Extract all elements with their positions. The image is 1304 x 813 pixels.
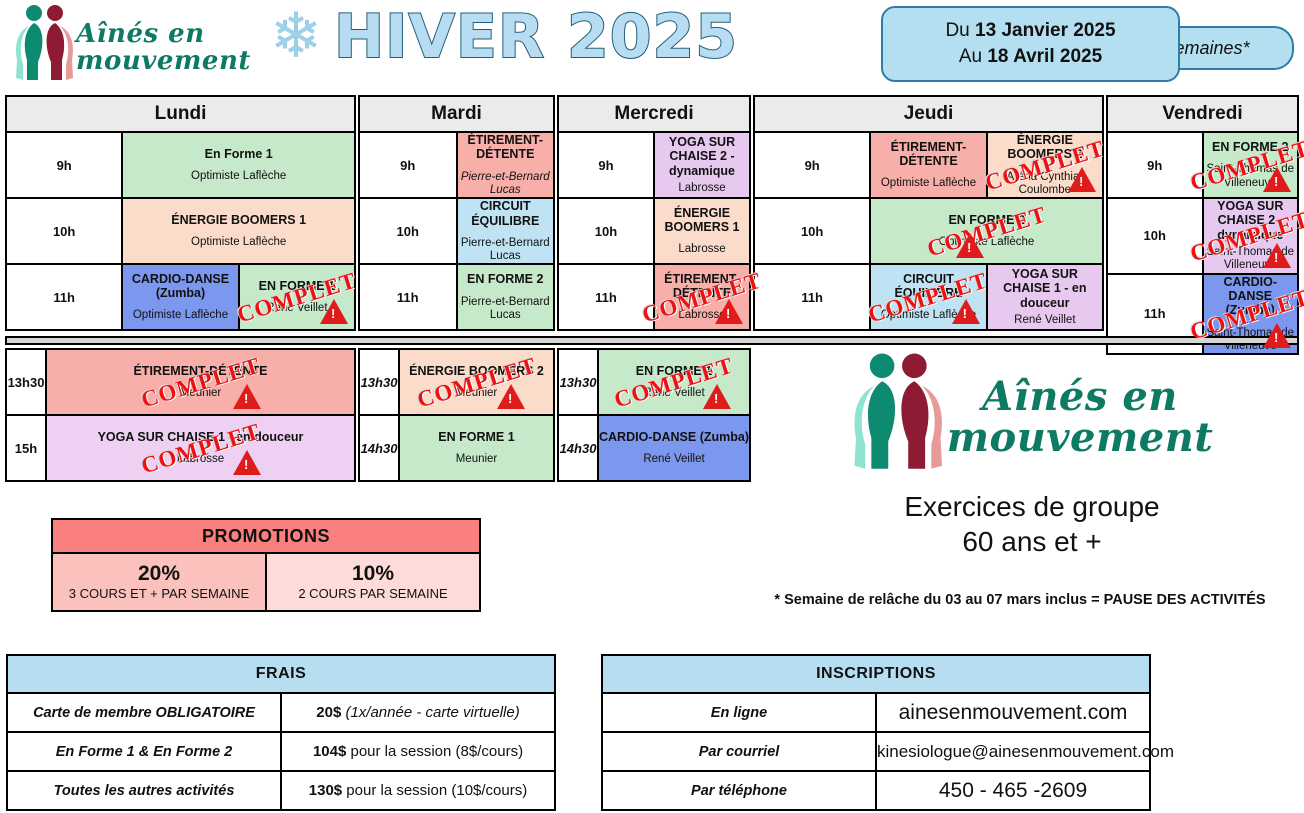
- promotion-percent: 20%: [54, 555, 264, 586]
- class-cell[interactable]: CARDIO-DANSE (Zumba) René Veillet: [598, 415, 750, 481]
- class-cell[interactable]: CIRCUIT ÉQUILIBRE Pierre-et-Bernard Luca…: [457, 198, 555, 264]
- table-row: 10h ÉNERGIE BOOMERS 1 Optimiste Laflèche: [6, 198, 355, 264]
- schedule-mercredi: Mercredi 9h YOGA SUR CHAISE 2 - dynamiqu…: [557, 95, 751, 331]
- frais-label: Carte de membre OBLIGATOIRE: [7, 693, 281, 732]
- frais-heading: FRAIS: [7, 655, 555, 693]
- table-row: 10h EN FORME 2 Optimiste Laflèche COMPLE…: [754, 198, 1103, 264]
- time-label: 11h: [558, 264, 654, 330]
- warning-triangle-icon: [1263, 167, 1291, 192]
- class-cell[interactable]: ÉTIREMENT-DÉTENTE Optimiste Laflèche: [870, 132, 986, 198]
- snowflake-icon: ❄: [270, 6, 322, 68]
- warning-triangle-icon: [956, 233, 984, 258]
- table-row: 10h YOGA SUR CHAISE 2 - dynamique Saint-…: [1107, 198, 1298, 274]
- class-cell[interactable]: ÉTIREMENT-DÉTENTE Meunier COMPLET: [46, 349, 355, 415]
- schedule-lundi: Lundi 9h En Forme 1 Optimiste Laflèche 1…: [5, 95, 356, 331]
- warning-triangle-icon: [703, 384, 731, 409]
- class-cell[interactable]: YOGA SUR CHAISE 1 - en douceur René Veil…: [987, 264, 1103, 330]
- table-row: 11h CIRCUIT ÉQUILIBRE Optimiste Laflèche…: [754, 264, 1103, 330]
- complet-stamp: COMPLET: [924, 202, 1049, 263]
- session-dates-box: Du 13 Janvier 2025 Au 18 Avril 2025: [881, 6, 1180, 82]
- table-row: 13h30 ÉTIREMENT-DÉTENTE Meunier COMPLET: [6, 349, 355, 415]
- promotion-description: 2 COURS PAR SEMAINE: [268, 586, 478, 609]
- phone-number[interactable]: 450 - 465 -2609: [876, 771, 1150, 810]
- frais-label: En Forme 1 & En Forme 2: [7, 732, 281, 771]
- time-label: 10h: [1107, 198, 1203, 274]
- table-row: 9h En Forme 1 Optimiste Laflèche: [6, 132, 355, 198]
- time-label: 10h: [558, 198, 654, 264]
- footnote-relache: * Semaine de relâche du 03 au 07 mars in…: [740, 592, 1300, 608]
- class-cell[interactable]: EN FORME 1 René Veillet COMPLET: [598, 349, 750, 415]
- table-row: 9h ÉTIREMENT-DÉTENTE Optimiste Laflèche …: [754, 132, 1103, 198]
- warning-triangle-icon: [1263, 243, 1291, 268]
- class-cell[interactable]: ÉTIREMENT-DÉTENTE Labrosse COMPLET: [654, 264, 750, 330]
- class-cell[interactable]: CIRCUIT ÉQUILIBRE Optimiste Laflèche COM…: [870, 264, 986, 330]
- schedule-vendredi: Vendredi 9h EN FORME 2 Saint-Thomas de V…: [1106, 95, 1299, 355]
- brand-logo-main: Aînés en mouvement: [760, 352, 1304, 483]
- time-label: 13h30: [359, 349, 399, 415]
- schedule-afternoon-mercredi: 13h30 EN FORME 1 René Veillet COMPLET 14…: [557, 348, 751, 482]
- table-row: 13h30 EN FORME 1 René Veillet COMPLET: [558, 349, 750, 415]
- table-row: 10h ÉNERGIE BOOMERS 1 Labrosse: [558, 198, 750, 264]
- table-row: 20% 3 COURS ET + PAR SEMAINE 10% 2 COURS…: [52, 553, 480, 611]
- table-row: Toutes les autres activités 130$ pour la…: [7, 771, 555, 810]
- inscriptions-label: Par téléphone: [602, 771, 876, 810]
- frais-table: FRAIS Carte de membre OBLIGATOIRE 20$ (1…: [6, 654, 556, 811]
- class-cell[interactable]: EN FORME 2 Optimiste Laflèche COMPLET: [870, 198, 1103, 264]
- tagline: Exercices de groupe 60 ans et +: [760, 489, 1304, 559]
- schedule-divider: [5, 336, 1299, 345]
- table-row: 9h ÉTIREMENT-DÉTENTE Pierre-et-Bernard L…: [359, 132, 554, 198]
- time-label: 13h30: [6, 349, 46, 415]
- inscriptions-label: Par courriel: [602, 732, 876, 771]
- warning-triangle-icon: [233, 384, 261, 409]
- brand-name-header: Aînés en mouvement: [76, 21, 251, 74]
- time-label: 10h: [6, 198, 122, 264]
- class-cell[interactable]: EN FORME 2 Pierre-et-Bernard Lucas: [457, 264, 555, 330]
- time-label: 14h30: [558, 415, 598, 481]
- day-header-mercredi: Mercredi: [558, 96, 750, 132]
- class-cell[interactable]: YOGA SUR CHAISE 2 - dynamique Saint-Thom…: [1203, 198, 1299, 274]
- promotions-table: PROMOTIONS 20% 3 COURS ET + PAR SEMAINE …: [51, 518, 481, 612]
- table-row: Par courriel kinesiologue@ainesenmouveme…: [602, 732, 1150, 771]
- time-label: 14h30: [359, 415, 399, 481]
- warning-triangle-icon: [1068, 167, 1096, 192]
- date-line-end: Au 18 Avril 2025: [959, 44, 1102, 70]
- table-row: En Forme 1 & En Forme 2 104$ pour la ses…: [7, 732, 555, 771]
- time-label: 10h: [359, 198, 457, 264]
- time-label: 13h30: [558, 349, 598, 415]
- schedule-afternoon-mardi: 13h30 ÉNERGIE BOOMERS 2 Meunier COMPLET …: [358, 348, 555, 482]
- website-link[interactable]: ainesenmouvement.com: [876, 693, 1150, 732]
- table-row: En ligne ainesenmouvement.com: [602, 693, 1150, 732]
- page-title: HIVER 2025: [334, 7, 738, 67]
- class-cell[interactable]: EN FORME 1 Meunier: [399, 415, 554, 481]
- time-label: 10h: [754, 198, 870, 264]
- two-people-ribbon-logo-icon: [14, 4, 76, 91]
- time-label: 15h: [6, 415, 46, 481]
- table-row: 11h CARDIO-DANSE (Zumba) Optimiste Laflè…: [6, 264, 355, 330]
- table-row: 13h30 ÉNERGIE BOOMERS 2 Meunier COMPLET: [359, 349, 554, 415]
- time-label: 9h: [558, 132, 654, 198]
- time-label: 9h: [359, 132, 457, 198]
- frais-value: 104$ pour la session (8$/cours): [281, 732, 555, 771]
- promotion-description: 3 COURS ET + PAR SEMAINE: [54, 586, 264, 609]
- brand-logo-header: Aînés en mouvement: [14, 4, 251, 91]
- table-row: Par téléphone 450 - 465 -2609: [602, 771, 1150, 810]
- frais-value: 130$ pour la session (10$/cours): [281, 771, 555, 810]
- class-cell[interactable]: ÉNERGIE BOOMERS 1 Labrosse: [654, 198, 750, 264]
- inscriptions-heading: INSCRIPTIONS: [602, 655, 1150, 693]
- promotions-heading: PROMOTIONS: [52, 519, 480, 553]
- class-cell[interactable]: En Forme 1 Optimiste Laflèche: [122, 132, 355, 198]
- day-header-mardi: Mardi: [359, 96, 554, 132]
- title-block: ❄ HIVER 2025: [270, 6, 738, 68]
- class-cell[interactable]: EN FORME 2 Saint-Thomas de Villeneuve CO…: [1203, 132, 1299, 198]
- tagline-line-1: Exercices de groupe: [760, 489, 1304, 524]
- table-row: Carte de membre OBLIGATOIRE 20$ (1x/anné…: [7, 693, 555, 732]
- brand-name-main: Aînés en mouvement: [947, 377, 1214, 459]
- class-cell[interactable]: ÉNERGIE BOOMERS 1 Optimiste Laflèche: [122, 198, 355, 264]
- table-row: 9h EN FORME 2 Saint-Thomas de Villeneuve…: [1107, 132, 1298, 198]
- warning-triangle-icon: [233, 450, 261, 475]
- promotion-percent: 10%: [268, 555, 478, 586]
- tagline-line-2: 60 ans et +: [760, 524, 1304, 559]
- warning-triangle-icon: [497, 384, 525, 409]
- day-header-lundi: Lundi: [6, 96, 355, 132]
- warning-triangle-icon: [952, 299, 980, 324]
- day-header-jeudi: Jeudi: [754, 96, 1103, 132]
- warning-triangle-icon: [1263, 323, 1291, 348]
- inscriptions-label: En ligne: [602, 693, 876, 732]
- class-cell[interactable]: ÉNERGIE BOOMERS 2 Meunier COMPLET: [399, 349, 554, 415]
- date-line-start: Du 13 Janvier 2025: [945, 18, 1115, 44]
- frais-value: 20$ (1x/année - carte virtuelle): [281, 693, 555, 732]
- time-label: 9h: [1107, 132, 1203, 198]
- time-label: 11h: [359, 264, 457, 330]
- class-cell[interactable]: CARDIO-DANSE (Zumba) Optimiste Laflèche: [122, 264, 238, 330]
- warning-triangle-icon: [715, 299, 743, 324]
- promotion-item: 10% 2 COURS PAR SEMAINE: [266, 553, 480, 611]
- class-cell[interactable]: YOGA SUR CHAISE 2 - dynamique Labrosse: [654, 132, 750, 198]
- class-cell[interactable]: YOGA SUR CHAISE 1 - en douceur Labrosse …: [46, 415, 355, 481]
- class-cell[interactable]: ÉNERGIE BOOMERS 2 Aréna Cynthia-Coulombe…: [987, 132, 1103, 198]
- two-people-ribbon-logo-icon: [851, 352, 947, 483]
- table-row: 11h EN FORME 2 Pierre-et-Bernard Lucas: [359, 264, 554, 330]
- time-label: 11h: [754, 264, 870, 330]
- class-cell[interactable]: ÉTIREMENT-DÉTENTE Pierre-et-Bernard Luca…: [457, 132, 555, 198]
- frais-label: Toutes les autres activités: [7, 771, 281, 810]
- table-row: 14h30 EN FORME 1 Meunier: [359, 415, 554, 481]
- time-label: 9h: [754, 132, 870, 198]
- schedule-mardi: Mardi 9h ÉTIREMENT-DÉTENTE Pierre-et-Ber…: [358, 95, 555, 331]
- brand-panel: Aînés en mouvement Exercices de groupe 6…: [760, 352, 1304, 559]
- class-cell[interactable]: EN FORME 1 René Veillet COMPLET: [239, 264, 355, 330]
- email-link[interactable]: kinesiologue@ainesenmouvement.com: [876, 732, 1150, 771]
- schedule-jeudi: Jeudi 9h ÉTIREMENT-DÉTENTE Optimiste Laf…: [753, 95, 1104, 331]
- time-label: 11h: [6, 264, 122, 330]
- day-header-vendredi: Vendredi: [1107, 96, 1298, 132]
- table-row: 15h YOGA SUR CHAISE 1 - en douceur Labro…: [6, 415, 355, 481]
- table-row: 14h30 CARDIO-DANSE (Zumba) René Veillet: [558, 415, 750, 481]
- time-label: 9h: [6, 132, 122, 198]
- inscriptions-table: INSCRIPTIONS En ligne ainesenmouvement.c…: [601, 654, 1151, 811]
- table-row: 11h ÉTIREMENT-DÉTENTE Labrosse COMPLET: [558, 264, 750, 330]
- table-row: 9h YOGA SUR CHAISE 2 - dynamique Labross…: [558, 132, 750, 198]
- page-header: Aînés en mouvement ❄ HIVER 2025 13 semai…: [0, 0, 1304, 93]
- schedule-afternoon-lundi: 13h30 ÉTIREMENT-DÉTENTE Meunier COMPLET …: [5, 348, 356, 482]
- warning-triangle-icon: [320, 299, 348, 324]
- promotion-item: 20% 3 COURS ET + PAR SEMAINE: [52, 553, 266, 611]
- table-row: 10h CIRCUIT ÉQUILIBRE Pierre-et-Bernard …: [359, 198, 554, 264]
